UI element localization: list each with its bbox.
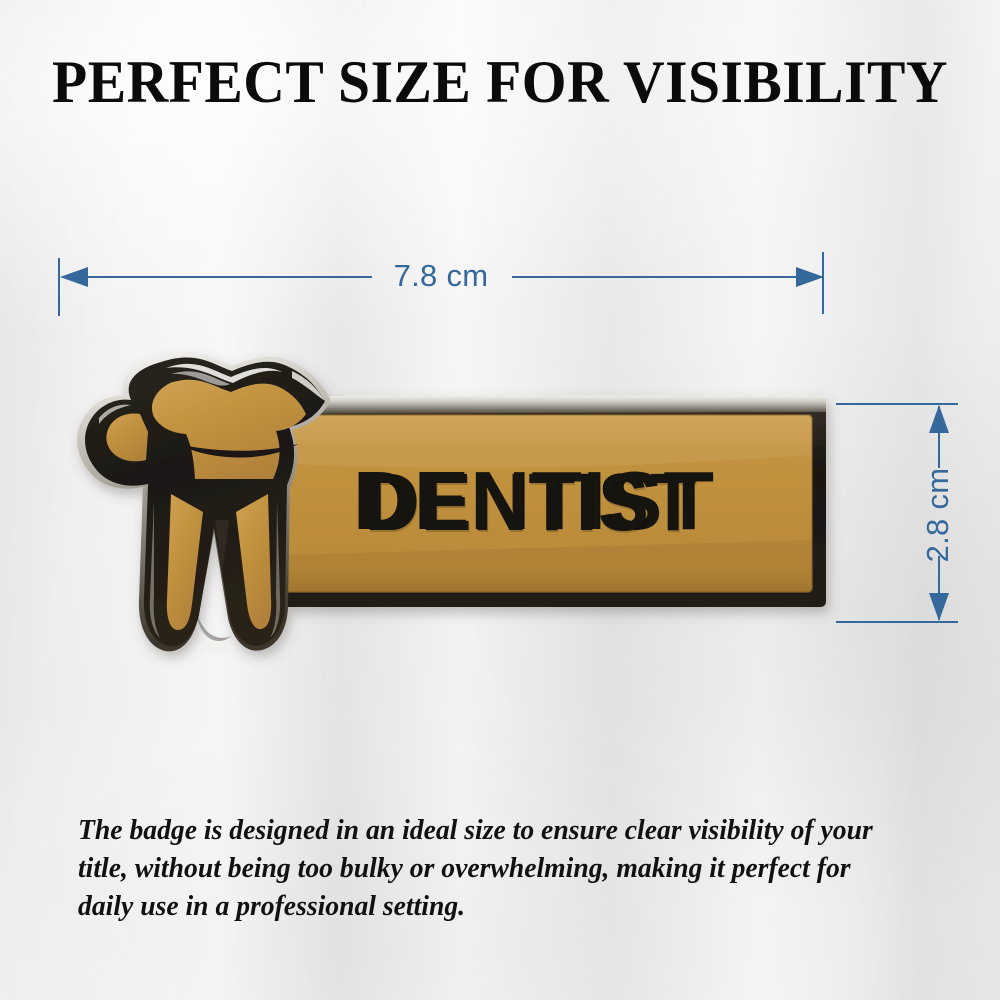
width-dim-line-left [62, 276, 372, 278]
product-image-canvas: PERFECT SIZE FOR VISIBILITY [0, 0, 1000, 1000]
height-dimension-label: 2.8 cm [920, 450, 956, 580]
page-title: PERFECT SIZE FOR VISIBILITY [20, 48, 980, 117]
width-arrow-left-icon [60, 265, 90, 289]
plate-text-overlay: DENTIST [270, 462, 793, 544]
width-arrow-right-icon [794, 265, 824, 289]
height-ext-line-bottom [836, 621, 958, 623]
width-dim-line-right [512, 276, 822, 278]
width-dimension-label: 7.8 cm [376, 258, 506, 294]
height-arrow-up-icon [927, 405, 951, 435]
caption-text: The badge is designed in an ideal size t… [78, 812, 912, 926]
height-arrow-down-icon [927, 591, 951, 621]
